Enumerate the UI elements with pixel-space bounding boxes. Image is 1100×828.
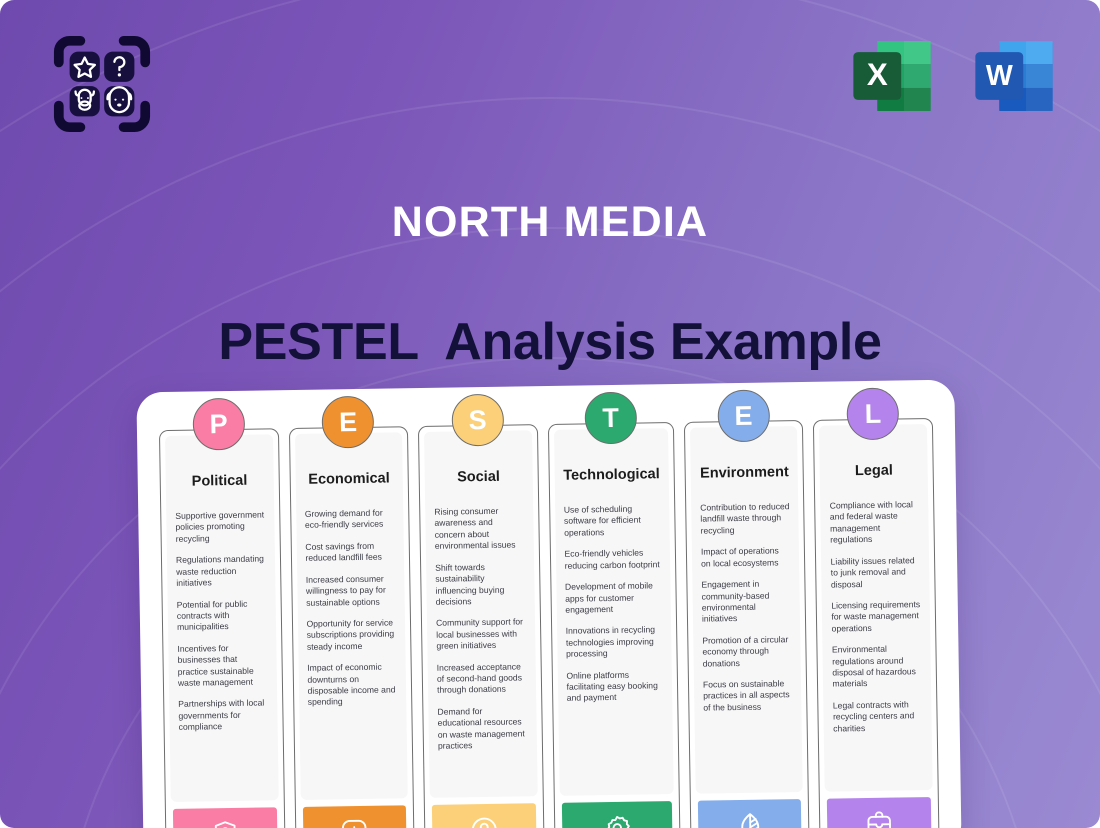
pestel-bullet: Engagement in community-based environmen… — [701, 578, 791, 625]
pestel-bullet: Rising consumer awareness and concern ab… — [434, 505, 524, 552]
pestel-column-environment[interactable]: EEnvironmentContribution to reduced land… — [684, 420, 810, 828]
pestel-bullet: Licensing requirements for waste managem… — [831, 599, 921, 635]
pestel-icon-tile[interactable] — [432, 803, 536, 828]
pestel-bullet: Growing demand for eco-friendly services — [305, 507, 395, 531]
shield-person-icon — [210, 819, 240, 828]
pestel-panel: TechnologicalUse of scheduling software … — [554, 428, 674, 796]
pestel-bullet: Community support for local businesses w… — [436, 617, 526, 653]
pestel-bullet: Shift towards sustainability influencing… — [435, 561, 525, 608]
pestel-bullet: Impact of operations on local ecosystems — [701, 545, 791, 569]
pestel-bullet: Environmental regulations around disposa… — [832, 643, 922, 690]
pestel-column-title: Legal — [829, 462, 919, 479]
pestel-column-title: Environment — [700, 464, 790, 481]
pestel-bullet: Eco-friendly vehicles reducing carbon fo… — [564, 548, 661, 572]
pestel-bullet: Innovations in recycling technologies im… — [566, 625, 663, 661]
pestel-bullet-list: Rising consumer awareness and concern ab… — [434, 505, 527, 752]
pestel-bullet-list: Compliance with local and federal waste … — [830, 499, 923, 735]
pestel-panel: EnvironmentContribution to reduced landf… — [690, 426, 803, 794]
pestel-bullet: Development of mobile apps for customer … — [565, 580, 662, 616]
pestel-icon-tile[interactable] — [302, 805, 406, 828]
pestel-bullet: Regulations mandating waste reduction in… — [176, 554, 266, 590]
pestel-bullet: Liability issues related to junk removal… — [831, 555, 921, 591]
pestel-icon-tile[interactable] — [698, 799, 802, 828]
pestel-bullet: Increased consumer willingness to pay fo… — [306, 573, 396, 609]
pestel-bullet: Contribution to reduced landfill waste t… — [700, 501, 790, 537]
svg-text:X: X — [867, 57, 888, 92]
pestel-bullet: Cost savings from reduced landfill fees — [305, 540, 395, 564]
pestel-bullet: Incentives for businesses that practice … — [177, 642, 267, 689]
excel-icon[interactable]: X — [846, 30, 938, 122]
office-icons: X W — [846, 30, 1060, 122]
bar-chart-icon — [339, 817, 369, 828]
page-title: PESTEL Analysis Example — [0, 312, 1100, 372]
pestel-panel: LegalCompliance with local and federal w… — [819, 424, 932, 792]
pestel-column-title: Technological — [563, 466, 660, 484]
pestel-column-title: Economical — [304, 470, 394, 487]
pestel-bullet: Focus on sustainable practices in all as… — [703, 678, 793, 714]
briefcase-icon — [864, 809, 894, 828]
pestel-column-title: Political — [175, 472, 265, 489]
pestel-bullet: Impact of economic downturns on disposab… — [307, 662, 397, 709]
pestel-panel: SocialRising consumer awareness and conc… — [424, 430, 537, 798]
pestel-bullet: Increased acceptance of second-hand good… — [437, 661, 527, 697]
pestel-icon-tile[interactable] — [561, 801, 672, 828]
svg-text:W: W — [986, 60, 1013, 92]
pestel-bullet-list: Contribution to reduced landfill waste t… — [700, 501, 793, 714]
gear-icon — [602, 813, 632, 828]
leaf-icon — [735, 811, 765, 828]
pestel-bullet: Online platforms facilitating easy booki… — [566, 669, 663, 705]
pestel-panel: PoliticalSupportive government policies … — [165, 434, 278, 802]
pestel-board: PPoliticalSupportive government policies… — [136, 380, 961, 828]
pestel-bullet: Potential for public contracts with muni… — [177, 598, 267, 634]
north-media-logo[interactable] — [48, 30, 156, 138]
pestel-bullet: Promotion of a circular economy through … — [702, 634, 792, 670]
pestel-bullet-list: Supportive government policies promoting… — [175, 509, 268, 733]
brand-title: NORTH MEDIA — [0, 198, 1100, 247]
pestel-icon-tile[interactable] — [173, 807, 277, 828]
pestel-bullet: Use of scheduling software for efficient… — [564, 503, 661, 539]
pestel-bullet-list: Growing demand for eco-friendly services… — [305, 507, 398, 708]
pestel-bullet: Compliance with local and federal waste … — [830, 499, 920, 546]
pestel-icon-tile[interactable] — [827, 797, 931, 828]
pestel-bullet: Partnerships with local governments for … — [178, 698, 268, 734]
pestel-panel: EconomicalGrowing demand for eco-friendl… — [295, 432, 408, 800]
word-icon[interactable]: W — [968, 30, 1060, 122]
pestel-bullet-list: Use of scheduling software for efficient… — [564, 503, 664, 704]
pestel-column-legal[interactable]: LLegalCompliance with local and federal … — [813, 418, 939, 828]
pestel-column-technological[interactable]: TTechnologicalUse of scheduling software… — [547, 422, 680, 828]
pestel-bullet: Legal contracts with recycling centers a… — [833, 699, 923, 735]
poster-canvas: X W NORTH MEDIA PESTEL Analysis Example … — [0, 0, 1100, 828]
pestel-column-political[interactable]: PPoliticalSupportive government policies… — [159, 428, 285, 828]
pestel-column-economical[interactable]: EEconomicalGrowing demand for eco-friend… — [288, 426, 414, 828]
pestel-bullet: Opportunity for service subscriptions pr… — [306, 617, 396, 653]
pestel-column-title: Social — [434, 468, 524, 485]
pestel-bullet: Demand for educational resources on wast… — [437, 705, 527, 752]
person-circle-icon — [469, 815, 499, 828]
pestel-column-social[interactable]: SSocialRising consumer awareness and con… — [418, 424, 544, 828]
pestel-bullet: Supportive government policies promoting… — [175, 509, 265, 545]
